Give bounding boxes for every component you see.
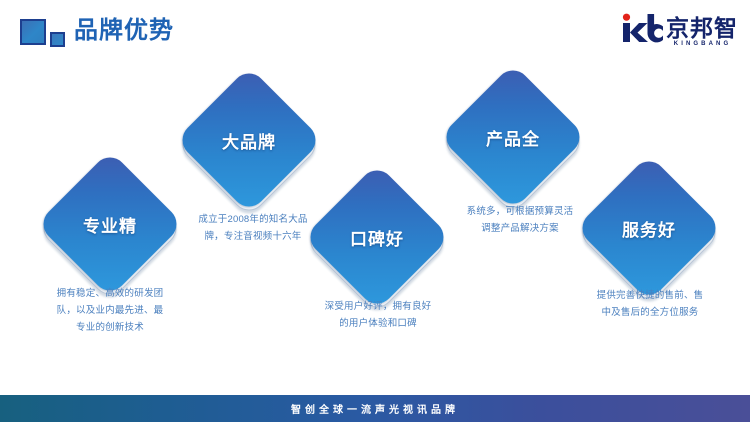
diamond-face — [175, 66, 322, 213]
diamond-5[interactable]: 服务好 — [597, 176, 701, 280]
diamond-1[interactable]: 专业精 — [58, 172, 162, 276]
diamond-4[interactable]: 产品全 — [461, 85, 565, 189]
diamond-face — [575, 154, 722, 301]
diamond-3[interactable]: 口碑好 — [325, 185, 429, 289]
advantage-desc-5: 提供完善快捷的售前、售 中及售后的全方位服务 — [560, 287, 740, 321]
diamond-face — [439, 63, 586, 210]
advantage-desc-3: 深受用户好评，拥有良好 的用户体验和口碑 — [288, 298, 468, 332]
diamond-face — [36, 150, 183, 297]
diamond-face — [303, 163, 450, 310]
slide-footer: 智创全球一流声光视讯品牌 — [0, 395, 750, 422]
diamond-2[interactable]: 大品牌 — [197, 88, 301, 192]
advantage-desc-1: 拥有稳定、高效的研发团 队，以及业内最先进、最 专业的创新技术 — [20, 285, 200, 336]
slide-root: 品牌优势 京邦智 KINGBANG 专业 — [0, 0, 750, 422]
advantages-stage: 专业精 拥有稳定、高效的研发团 队，以及业内最先进、最 专业的创新技术 大品牌 … — [0, 0, 750, 422]
footer-slogan: 智创全球一流声光视讯品牌 — [291, 401, 459, 416]
